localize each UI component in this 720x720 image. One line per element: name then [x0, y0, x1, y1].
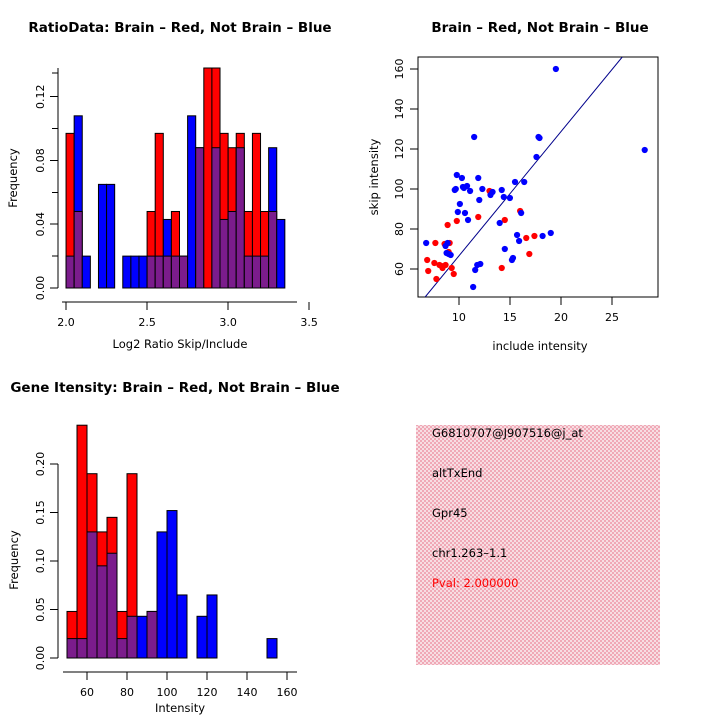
scatter-point	[548, 230, 554, 236]
scatter-point	[451, 271, 457, 277]
info-panel-background	[416, 425, 660, 665]
histogram-bar-overlap	[236, 148, 244, 288]
scatter-point	[424, 257, 430, 263]
scatter-point	[501, 194, 507, 200]
panel-scatter: Brain – Red, Not Brain – Blue 6080100120…	[360, 0, 720, 360]
scatter-point	[507, 195, 513, 201]
y-tick-label: 0.08	[34, 148, 47, 173]
y-tick-label: 0.00	[34, 646, 47, 671]
histogram-bar-overlap	[147, 611, 157, 658]
ratio-x-axis: 2.02.53.03.5	[57, 302, 318, 329]
scatter-point	[465, 217, 471, 223]
x-tick-label: 20	[554, 311, 568, 324]
figure-canvas: RatioData: Brain – Red, Not Brain – Blue…	[0, 0, 720, 720]
histogram-bar-overlap	[97, 566, 107, 658]
histogram-bar-overlap	[147, 256, 155, 288]
histogram-bar-overlap	[196, 148, 204, 288]
scatter-x-axis-label: include intensity	[492, 339, 587, 353]
y-tick-label: 140	[393, 99, 406, 120]
histogram-bar	[107, 184, 115, 288]
scatter-point	[523, 235, 529, 241]
histogram-bar-overlap	[66, 256, 74, 288]
scatter-point	[553, 66, 559, 72]
info-line-gene-symbol: Gpr45	[432, 506, 468, 520]
histogram-bar-overlap	[252, 256, 260, 288]
scatter-point	[533, 154, 539, 160]
histogram-bar-overlap	[117, 639, 127, 658]
scatter-y-axis-label: skip intensity	[367, 138, 381, 215]
intensity-x-axis: 6080100120140160	[63, 672, 298, 699]
scatter-point	[423, 240, 429, 246]
y-tick-label: 0.00	[34, 276, 47, 301]
histogram-bar	[167, 511, 177, 658]
x-tick-label: 160	[277, 686, 298, 699]
y-tick-label: 0.10	[34, 549, 47, 574]
scatter-point	[445, 240, 451, 246]
info-line-pvalue: Pval: 2.000000	[432, 576, 518, 590]
info-line-locus: chr1.263–1.1	[432, 546, 507, 560]
x-tick-label: 15	[503, 311, 517, 324]
scatter-point	[470, 284, 476, 290]
scatter-point	[448, 252, 454, 258]
scatter-point	[521, 179, 527, 185]
scatter-point	[489, 189, 495, 195]
ratio-y-axis-label: Frequency	[6, 148, 20, 208]
scatter-point	[516, 238, 522, 244]
scatter-point	[477, 261, 483, 267]
x-tick-label: 25	[605, 311, 619, 324]
scatter-point	[531, 233, 537, 239]
histogram-bar-overlap	[220, 219, 228, 288]
y-tick-label: 80	[393, 222, 406, 236]
intensity-y-axis-label: Frequency	[7, 530, 21, 590]
intensity-y-axis: 0.000.050.100.150.20	[34, 452, 58, 671]
scatter-point	[453, 186, 459, 192]
histogram-bar	[197, 616, 207, 658]
histogram-bar	[157, 532, 167, 658]
scatter-point	[457, 201, 463, 207]
scatter-point	[642, 147, 648, 153]
scatter-y-axis: 6080100120140160	[393, 59, 418, 277]
scatter-point	[445, 222, 451, 228]
histogram-bar	[204, 68, 212, 288]
scatter-point	[432, 240, 438, 246]
x-tick-label: 80	[120, 686, 134, 699]
histogram-bar	[139, 256, 147, 288]
scatter-point	[442, 262, 448, 268]
panel-intensity-histogram: Gene Itensity: Brain – Red, Not Brain – …	[0, 360, 360, 720]
ratio-x-axis-label: Log2 Ratio Skip/Include	[113, 337, 248, 351]
scatter-point	[462, 210, 468, 216]
histogram-bar	[123, 256, 131, 288]
histogram-bar-overlap	[244, 256, 252, 288]
scatter-point	[499, 187, 505, 193]
x-tick-label: 2.5	[138, 316, 156, 329]
ratio-histogram-bars	[66, 68, 285, 288]
scatter-point	[476, 197, 482, 203]
histogram-bar	[137, 616, 147, 658]
scatter-point	[454, 218, 460, 224]
panel-ratio-histogram: RatioData: Brain – Red, Not Brain – Blue…	[0, 0, 360, 360]
x-tick-label: 2.0	[57, 316, 75, 329]
histogram-bar-overlap	[228, 211, 236, 288]
x-tick-label: 3.0	[219, 316, 237, 329]
histogram-bar	[98, 184, 106, 288]
y-tick-label: 0.04	[34, 212, 47, 237]
intensity-histogram-bars	[67, 425, 277, 658]
histogram-bar-overlap	[87, 532, 97, 658]
scatter-point	[475, 214, 481, 220]
scatter-point	[459, 175, 465, 181]
histogram-bar	[82, 256, 90, 288]
y-tick-label: 100	[393, 179, 406, 200]
y-tick-label: 0.15	[34, 500, 47, 525]
histogram-bar-overlap	[180, 256, 188, 288]
intensity-histogram-title: Gene Itensity: Brain – Red, Not Brain – …	[10, 380, 339, 396]
histogram-bar	[277, 219, 285, 288]
scatter-point	[433, 276, 439, 282]
scatter-point	[502, 246, 508, 252]
histogram-bar-overlap	[127, 616, 137, 658]
scatter-svg: Brain – Red, Not Brain – Blue 6080100120…	[360, 0, 720, 360]
histogram-bar-overlap	[74, 211, 82, 288]
histogram-bar-overlap	[163, 256, 171, 288]
info-line-probe: G6810707@J907516@j_at	[432, 426, 583, 440]
histogram-bar-overlap	[261, 256, 269, 288]
scatter-points	[423, 66, 648, 290]
histogram-bar	[267, 639, 277, 658]
scatter-point	[518, 210, 524, 216]
scatter-point	[497, 220, 503, 226]
scatter-point	[539, 233, 545, 239]
scatter-point	[449, 265, 455, 271]
info-line-event-type: altTxEnd	[432, 466, 482, 480]
scatter-point	[512, 179, 518, 185]
y-tick-label: 0.12	[34, 84, 47, 109]
ratio-histogram-svg: RatioData: Brain – Red, Not Brain – Blue…	[0, 0, 360, 360]
scatter-point	[455, 209, 461, 215]
scatter-title: Brain – Red, Not Brain – Blue	[431, 20, 648, 36]
scatter-point	[536, 135, 542, 141]
y-tick-label: 60	[393, 262, 406, 276]
y-tick-label: 160	[393, 59, 406, 80]
info-panel-svg: G6810707@J907516@j_at altTxEnd Gpr45 chr…	[360, 360, 720, 720]
scatter-plot-frame	[418, 57, 658, 297]
histogram-bar-overlap	[77, 639, 87, 658]
x-tick-label: 3.5	[300, 316, 318, 329]
histogram-bar	[207, 595, 217, 658]
intensity-x-axis-label: Intensity	[155, 701, 205, 715]
x-tick-label: 140	[237, 686, 258, 699]
scatter-point	[479, 186, 485, 192]
x-tick-label: 10	[452, 311, 466, 324]
scatter-point	[425, 268, 431, 274]
scatter-point	[475, 175, 481, 181]
x-tick-label: 120	[197, 686, 218, 699]
scatter-point	[467, 188, 473, 194]
intensity-histogram-svg: Gene Itensity: Brain – Red, Not Brain – …	[0, 360, 360, 720]
histogram-bar-overlap	[107, 553, 117, 658]
histogram-bar-overlap	[212, 148, 220, 288]
histogram-bar-overlap	[269, 211, 277, 288]
y-tick-label: 0.20	[34, 452, 47, 477]
histogram-bar	[77, 425, 87, 658]
ratio-histogram-title: RatioData: Brain – Red, Not Brain – Blue	[28, 20, 331, 36]
scatter-point	[526, 251, 532, 257]
y-tick-label: 0.05	[34, 597, 47, 622]
scatter-point	[510, 255, 516, 261]
ratio-y-axis: 0.000.040.080.12	[34, 68, 58, 300]
x-tick-label: 60	[80, 686, 94, 699]
scatter-point	[499, 265, 505, 271]
histogram-bar	[177, 595, 187, 658]
scatter-x-axis: 10152025	[452, 297, 619, 324]
histogram-bar	[131, 256, 139, 288]
histogram-bar-overlap	[155, 256, 163, 288]
x-tick-label: 100	[157, 686, 178, 699]
histogram-bar	[188, 116, 196, 288]
panel-info: G6810707@J907516@j_at altTxEnd Gpr45 chr…	[360, 360, 720, 720]
y-tick-label: 120	[393, 139, 406, 160]
scatter-point	[471, 134, 477, 140]
scatter-point	[514, 232, 520, 238]
histogram-bar-overlap	[171, 256, 179, 288]
histogram-bar-overlap	[67, 639, 77, 658]
